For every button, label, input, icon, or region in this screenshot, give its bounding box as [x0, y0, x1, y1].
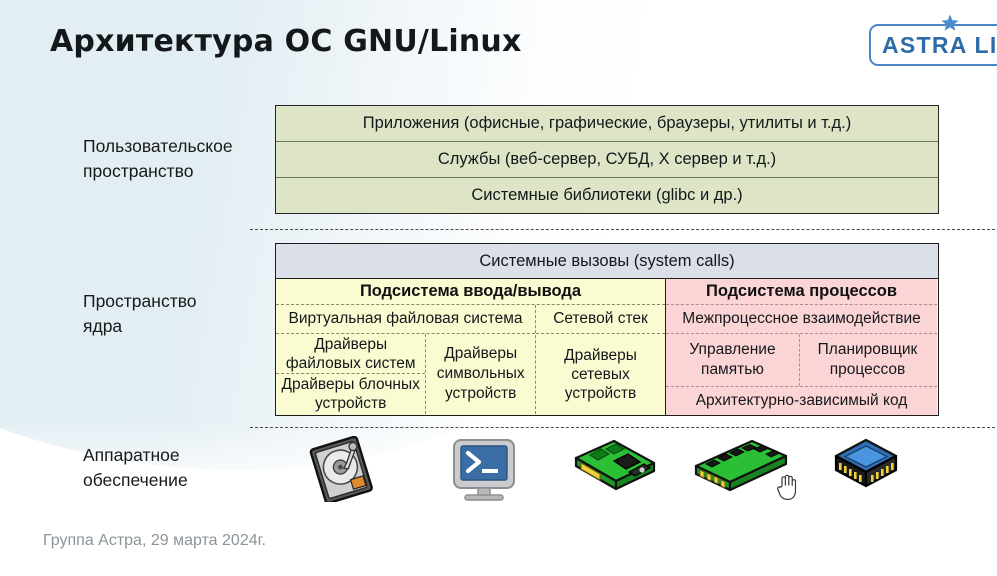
zone-label-kernel-space-line2: ядра — [83, 314, 298, 339]
page-title: Архитектура ОС GNU/Linux — [50, 24, 522, 59]
zone-label-kernel-space: Пространство ядра — [83, 289, 298, 339]
user-space-row-services: Службы (веб-сервер, СУБД, X сервер и т.д… — [276, 142, 938, 178]
network-device-drivers-line1: Драйверы — [564, 347, 637, 364]
network-device-drivers-cell: Драйверы сетевых устройств — [536, 334, 665, 414]
memory-management-line1: Управление — [689, 341, 775, 358]
star-icon — [939, 13, 961, 35]
system-calls-row: Системные вызовы (system calls) — [276, 244, 938, 279]
virtual-file-system-cell: Виртуальная файловая система — [276, 305, 535, 334]
network-device-drivers-line2: сетевых — [571, 366, 630, 383]
block-device-drivers-line2: устройств — [315, 395, 386, 412]
process-scheduler-line1: Планировщик — [818, 341, 918, 358]
footer-text: Группа Астра, 29 марта 2024г. — [43, 532, 266, 550]
logo-text: ASTRA LIN — [882, 32, 997, 59]
process-subsystem-title: Подсистема процессов — [666, 279, 937, 305]
zone-label-user-space-line1: Пользовательское — [83, 134, 298, 159]
io-left-group: Виртуальная файловая система Драйверы фа… — [276, 305, 536, 414]
block-device-drivers-cell: Драйверы блочных устройств — [276, 374, 425, 414]
character-device-drivers-cell: Драйверы символьных устройств — [426, 334, 535, 414]
process-subsystem-column: Подсистема процессов Межпроцессное взаим… — [666, 279, 937, 415]
ipc-cell: Межпроцессное взаимодействие — [666, 305, 937, 334]
hard-disk-icon — [303, 436, 379, 502]
process-scheduler-cell: Планировщик процессов — [800, 334, 935, 386]
memory-management-line2: памятью — [701, 361, 764, 378]
file-system-drivers-line2: файловых систем — [286, 355, 416, 372]
zone-label-hardware: Аппаратное обеспечение — [83, 443, 298, 493]
block-device-drivers-line1: Драйверы блочных — [282, 376, 420, 393]
memory-management-cell: Управление памятью — [666, 334, 800, 386]
file-system-drivers-cell: Драйверы файловых систем — [276, 334, 425, 374]
process-scheduler-line2: процессов — [830, 361, 906, 378]
astra-linux-logo: ASTRA LIN — [869, 24, 997, 66]
kernel-subsystems: Подсистема ввода/вывода Виртуальная файл… — [276, 279, 938, 415]
separator-kernel-hardware — [250, 427, 995, 428]
zone-label-user-space: Пользовательское пространство — [83, 134, 298, 184]
grab-hand-cursor — [775, 472, 801, 502]
cpu-chip-icon — [830, 436, 902, 498]
character-device-drivers-line2: символьных — [437, 365, 525, 382]
network-card-icon — [570, 436, 660, 498]
zone-label-kernel-space-line1: Пространство — [83, 289, 298, 314]
zone-label-hardware-line2: обеспечение — [83, 468, 298, 493]
io-right-group: Сетевой стек Драйверы сетевых устройств — [536, 305, 665, 414]
fs-and-block-drivers-group: Драйверы файловых систем Драйверы блочны… — [276, 334, 426, 414]
user-space-row-libraries: Системные библиотеки (glibc и др.) — [276, 178, 938, 213]
network-device-drivers-line3: устройств — [565, 385, 636, 402]
architecture-dependent-code-cell: Архитектурно-зависимый код — [666, 387, 937, 415]
network-stack-cell: Сетевой стек — [536, 305, 665, 334]
zone-label-hardware-line1: Аппаратное — [83, 443, 298, 468]
hardware-icons-row — [275, 436, 937, 508]
io-subsystem-column: Подсистема ввода/вывода Виртуальная файл… — [276, 279, 666, 415]
zone-label-user-space-line2: пространство — [83, 159, 298, 184]
character-device-drivers-line3: устройств — [445, 385, 516, 402]
io-subsystem-title: Подсистема ввода/вывода — [276, 279, 665, 305]
user-space-block: Приложения (офисные, графические, браузе… — [275, 105, 939, 214]
separator-user-kernel — [250, 229, 995, 230]
monitor-terminal-icon — [445, 436, 523, 504]
file-system-drivers-line1: Драйверы — [314, 336, 387, 353]
character-device-drivers-line1: Драйверы — [444, 345, 517, 362]
user-space-row-applications: Приложения (офисные, графические, браузе… — [276, 106, 938, 142]
kernel-space-block: Системные вызовы (system calls) Подсисте… — [275, 243, 939, 416]
